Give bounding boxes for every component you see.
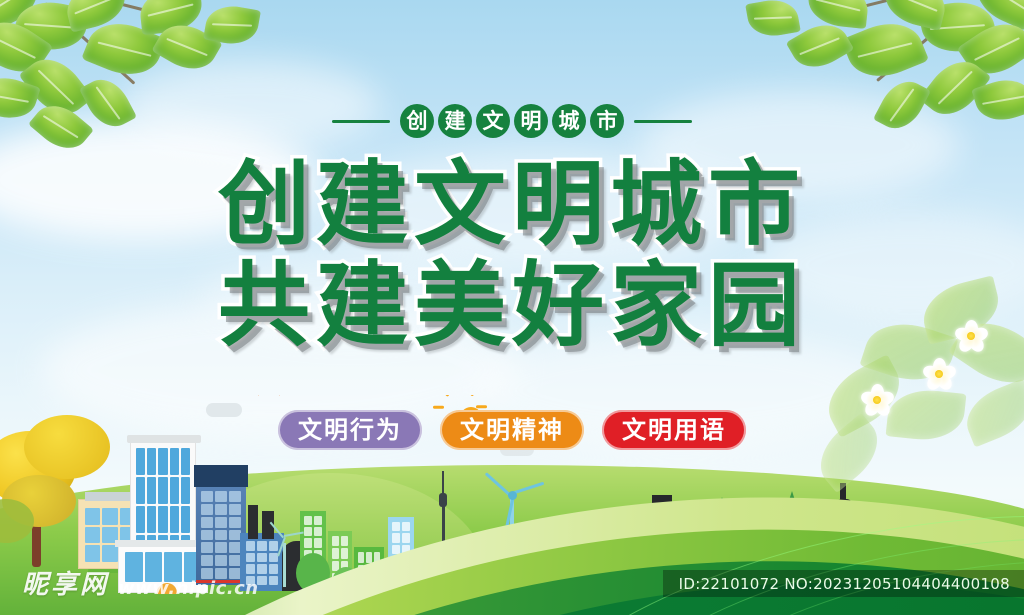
leaf (0, 9, 53, 84)
subtitle-char: 创 (400, 104, 434, 138)
leaf (786, 15, 854, 78)
flower-icon (924, 358, 954, 388)
subtitle-char: 明 (514, 104, 548, 138)
leaf (0, 0, 46, 33)
image-id-text: ID:22101072 NO:20231205104404400108 (679, 575, 1010, 593)
leaf (62, 0, 130, 33)
subtitle-rule-left (332, 120, 390, 123)
leaf (203, 2, 261, 48)
chimney (248, 505, 258, 539)
watermark-id: ID:22101072 NO:20231205104404400108 (663, 570, 1024, 597)
watermark-left: 昵享网 www.nipic.cn (22, 564, 259, 601)
poster-banner: 创 建 文 明 城 市 创建文明城市 共建美好家园 文明行为 文明精神 文明用语 (0, 0, 1024, 615)
leaf (880, 0, 951, 31)
building-light-blue (388, 517, 414, 581)
bird-icon (258, 395, 280, 401)
leaf (138, 0, 204, 35)
headline-line-2: 共建美好家园 (0, 253, 1024, 360)
badge-behavior[interactable]: 文明行为 (278, 410, 422, 450)
badge-language[interactable]: 文明用语 (602, 410, 746, 450)
subtitle-char: 市 (590, 104, 624, 138)
subtitle-chars: 创 建 文 明 城 市 (400, 104, 624, 138)
leaf (957, 11, 1024, 86)
site-url: www.nipic.cn (118, 578, 259, 601)
broadcast-tower (436, 471, 450, 575)
leaf (806, 0, 870, 29)
site-logo: 昵享网 (22, 564, 109, 601)
subtitle-char: 城 (552, 104, 586, 138)
subtitle-rule-right (634, 120, 692, 123)
leaf (12, 0, 90, 57)
round-tree (332, 567, 360, 611)
subtitle-row: 创 建 文 明 城 市 (0, 104, 1024, 138)
leaf (841, 12, 929, 88)
subtitle-char: 文 (476, 104, 510, 138)
leaf (745, 0, 800, 40)
headline-block: 创建文明城市 共建美好家园 (0, 152, 1024, 359)
headline-line-1: 创建文明城市 (0, 152, 1024, 259)
badge-row: 文明行为 文明精神 文明用语 (0, 410, 1024, 450)
leaf (967, 0, 1024, 31)
round-tree (296, 553, 330, 607)
leaf (918, 0, 999, 59)
subtitle-char: 建 (438, 104, 472, 138)
badge-spirit[interactable]: 文明精神 (440, 410, 584, 450)
